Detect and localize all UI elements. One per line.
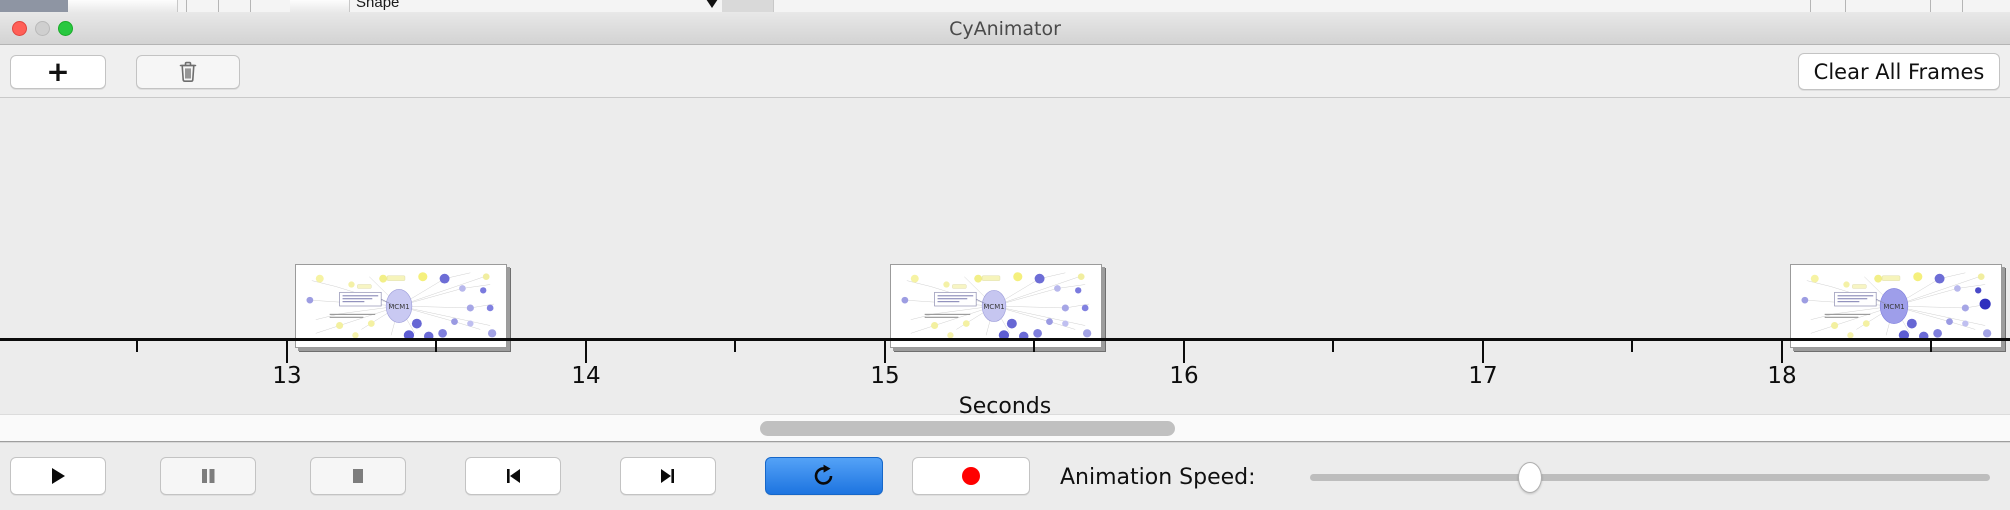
loop-icon — [811, 463, 837, 489]
axis-tick-minor — [136, 341, 138, 352]
play-icon — [47, 465, 69, 487]
background-divider — [186, 0, 187, 12]
loop-button[interactable] — [765, 457, 883, 495]
keyframe-thumbnail[interactable]: MCM1 — [295, 264, 507, 348]
axis-tick-label: 17 — [1468, 363, 1497, 389]
trash-icon — [178, 60, 198, 84]
background-divider — [1810, 0, 1811, 12]
axis-tick-label: 15 — [870, 363, 899, 389]
background-tab — [290, 0, 350, 12]
window-titlebar[interactable]: CyAnimator — [0, 12, 2010, 45]
axis-tick-major — [1781, 341, 1783, 363]
axis-line — [0, 338, 2010, 341]
central-node-label: MCM1 — [983, 303, 1004, 311]
window-title: CyAnimator — [0, 18, 2010, 40]
plus-icon: + — [46, 58, 69, 86]
axis-title: Seconds — [0, 394, 2010, 414]
playback-controls: Animation Speed: — [0, 442, 2010, 509]
background-tab — [722, 0, 774, 12]
pause-button[interactable] — [160, 457, 256, 495]
central-node-label: MCM1 — [1883, 303, 1904, 311]
background-window-label: Shape — [356, 0, 399, 11]
axis-tick-major — [585, 341, 587, 363]
axis-tick-label: 16 — [1169, 363, 1198, 389]
axis-tick-minor — [1033, 341, 1035, 352]
slider-track[interactable] — [1310, 474, 1990, 481]
axis-tick-minor — [734, 341, 736, 352]
background-divider — [218, 0, 219, 12]
play-button[interactable] — [10, 457, 106, 495]
frame-toolbar: + Clear All Frames — [0, 45, 2010, 98]
axis-tick-major — [1183, 341, 1185, 363]
animation-speed-slider[interactable] — [1310, 467, 1990, 487]
delete-frame-button[interactable] — [136, 55, 240, 89]
scrollbar-thumb[interactable] — [760, 421, 1175, 436]
background-divider — [1930, 0, 1931, 12]
axis-tick-minor — [1631, 341, 1633, 352]
background-window-titlebar — [0, 0, 68, 12]
network-thumbnail-graphic: MCM1 — [891, 265, 1101, 347]
background-divider — [1962, 0, 1963, 12]
add-frame-button[interactable]: + — [10, 55, 106, 89]
network-thumbnail-graphic: MCM1 — [296, 265, 506, 347]
skip-back-icon — [502, 465, 524, 487]
keyframe-thumbnail[interactable]: MCM1 — [890, 264, 1102, 348]
skip-to-start-button[interactable] — [465, 457, 561, 495]
record-button[interactable] — [912, 457, 1030, 495]
timeline-axis: 12 13 14 15 16 17 18 Seconds — [0, 338, 2010, 414]
timeline-panel[interactable]: MCM1 — [0, 98, 2010, 414]
axis-tick-label: 12 — [0, 363, 2, 389]
keyframe-thumbnail[interactable]: MCM1 — [1790, 264, 2002, 348]
stop-button[interactable] — [310, 457, 406, 495]
network-thumbnail-graphic: MCM1 — [1791, 265, 2001, 347]
stop-icon — [347, 465, 369, 487]
axis-tick-major — [1482, 341, 1484, 363]
axis-tick-minor — [435, 341, 437, 352]
pause-icon — [197, 465, 219, 487]
clear-all-frames-button[interactable]: Clear All Frames — [1798, 53, 2000, 90]
skip-to-end-button[interactable] — [620, 457, 716, 495]
axis-tick-label: 13 — [272, 363, 301, 389]
axis-tick-label: 18 — [1767, 363, 1796, 389]
background-caret-icon — [706, 0, 718, 8]
axis-tick-minor — [1332, 341, 1334, 352]
axis-tick-major — [884, 341, 886, 363]
slider-thumb[interactable] — [1518, 462, 1542, 493]
record-icon — [959, 464, 983, 488]
background-divider — [1845, 0, 1846, 12]
background-tab — [68, 0, 178, 12]
skip-forward-icon — [657, 465, 679, 487]
central-node-label: MCM1 — [388, 303, 409, 311]
background-divider — [250, 0, 251, 12]
axis-tick-major — [286, 341, 288, 363]
timeline-scrollbar[interactable] — [0, 414, 2010, 442]
keyframes-layer: MCM1 — [0, 98, 2010, 338]
axis-tick-minor — [1930, 341, 1932, 352]
cyanimator-window: CyAnimator + Clear All Frames — [0, 12, 2010, 510]
background-window-strip: Shape — [0, 0, 2010, 12]
animation-speed-label: Animation Speed: — [1060, 465, 1256, 490]
axis-tick-label: 14 — [571, 363, 600, 389]
